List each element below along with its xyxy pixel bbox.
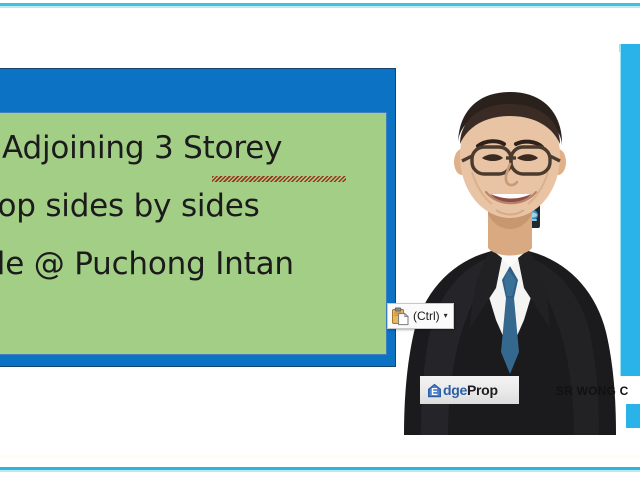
page-rule-top-soft xyxy=(0,6,640,8)
paste-options-label: (Ctrl) xyxy=(413,310,440,322)
svg-text:E: E xyxy=(431,387,438,398)
agent-name-caption: SR WONG C xyxy=(556,381,640,401)
paste-options-button[interactable]: (Ctrl) ▾ xyxy=(387,303,454,329)
document-page: Adjoining 3 Storey hop sides by sides al… xyxy=(0,0,640,480)
edgeprop-brand-prop: Prop xyxy=(467,383,498,397)
page-rule-bottom-soft xyxy=(0,470,640,472)
edgeprop-brand-dge: dge xyxy=(443,383,467,397)
clipboard-paste-icon xyxy=(391,307,410,326)
flyer-headline-line-1: Adjoining 3 Storey xyxy=(0,126,387,170)
edgeprop-house-icon: E xyxy=(427,383,442,398)
flyer-headline-line-2: hop sides by sides xyxy=(0,184,387,228)
flyer-headline-block: Adjoining 3 Storey hop sides by sides al… xyxy=(0,112,387,355)
spellcheck-squiggle-underline xyxy=(212,176,346,182)
page-rule-bottom-faint xyxy=(0,455,640,459)
agent-name-text: SR WONG C xyxy=(556,384,628,398)
flyer-headline-line-3: ale @ Puchong Intan xyxy=(0,242,387,286)
chevron-down-icon[interactable]: ▾ xyxy=(444,312,448,320)
accent-rail-lower xyxy=(626,404,640,428)
edgeprop-watermark: E dge Prop xyxy=(420,376,519,404)
accent-rail-upper xyxy=(621,44,640,376)
